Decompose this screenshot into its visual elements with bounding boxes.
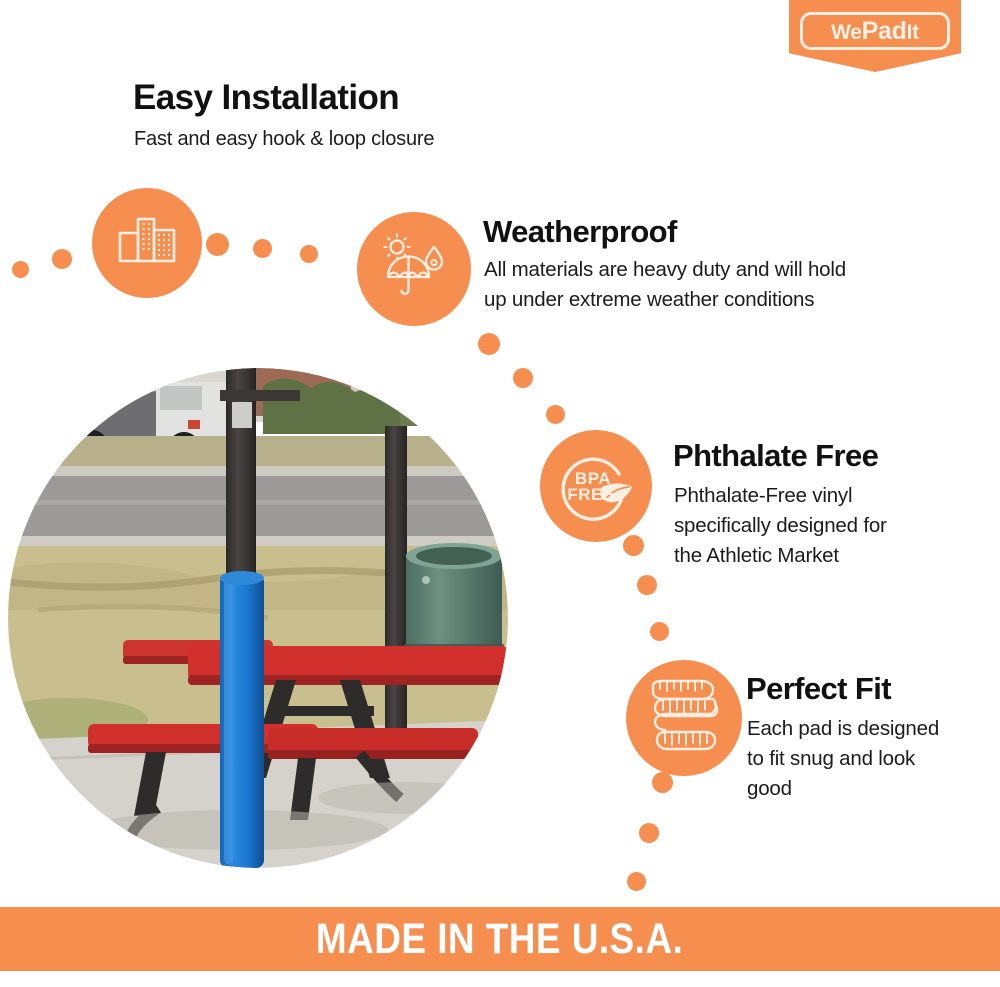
feature-body-line: All materials are heavy duty and will ho… [484, 255, 846, 285]
logo-text-it: It [907, 21, 919, 44]
trail-dot [627, 872, 646, 891]
feature-title-phthalate-free: Phthalate Free [673, 438, 878, 474]
feature-body-line: Fast and easy hook & loop closure [134, 125, 434, 153]
svg-text:FREE: FREE [567, 485, 614, 504]
trail-dot [478, 333, 500, 355]
trail-dot [639, 823, 659, 843]
trail-dot [546, 405, 565, 424]
feature-body-weatherproof: All materials are heavy duty and will ho… [484, 255, 846, 315]
logo-text-pad: Pad [862, 17, 907, 45]
feature-icon-circle-easy-installation[interactable] [92, 188, 202, 298]
feature-title-perfect-fit: Perfect Fit [746, 671, 891, 707]
trail-dot [206, 233, 229, 256]
feature-body-line: Each pad is designed [747, 714, 939, 744]
feature-body-line: to fit snug and look [747, 744, 939, 774]
feature-icon-circle-phthalate-free[interactable]: BPA FREE [540, 430, 652, 542]
trail-dot [300, 245, 318, 263]
feature-body-easy-installation: Fast and easy hook & loop closure [134, 125, 434, 153]
feature-icon-circle-perfect-fit[interactable] [626, 660, 742, 776]
bpa-free-leaf-icon: BPA FREE [553, 443, 639, 529]
feature-body-line: up under extreme weather conditions [484, 285, 846, 315]
feature-body-line: Phthalate-Free vinyl [674, 481, 887, 511]
trail-dot [652, 772, 673, 793]
product-photo [8, 368, 508, 868]
trail-dot [650, 622, 669, 641]
building-icon [116, 213, 178, 274]
feature-body-line: good [747, 774, 939, 804]
feature-body-perfect-fit: Each pad is designed to fit snug and loo… [747, 714, 939, 804]
feature-body-line: the Athletic Market [674, 541, 887, 571]
trail-dot [253, 239, 272, 258]
trail-dot [623, 535, 644, 556]
logo-outline-box: WePadIt [800, 12, 950, 50]
trail-dot [12, 261, 29, 278]
measuring-tape-icon [643, 676, 725, 761]
brand-logo[interactable]: WePadIt [789, 0, 961, 72]
logo-text: WePadIt [831, 19, 919, 44]
feature-icon-circle-weatherproof[interactable] [357, 212, 471, 326]
feature-body-phthalate-free: Phthalate-Free vinyl specifically design… [674, 481, 887, 571]
feature-title-weatherproof: Weatherproof [483, 214, 677, 250]
made-in-usa-text: MADE IN THE U.S.A. [316, 915, 683, 964]
trail-dot [52, 249, 72, 269]
feature-title-easy-installation: Easy Installation [133, 78, 399, 118]
logo-text-we: We [831, 21, 862, 44]
infographic-root: WePadIt Easy Installation Fast and easy … [0, 0, 1000, 987]
trail-dot [637, 575, 657, 595]
made-in-usa-banner: MADE IN THE U.S.A. [0, 907, 1000, 971]
sun-umbrella-raindrop-icon [379, 233, 449, 306]
feature-body-line: specifically designed for [674, 511, 887, 541]
trail-dot [513, 368, 533, 388]
